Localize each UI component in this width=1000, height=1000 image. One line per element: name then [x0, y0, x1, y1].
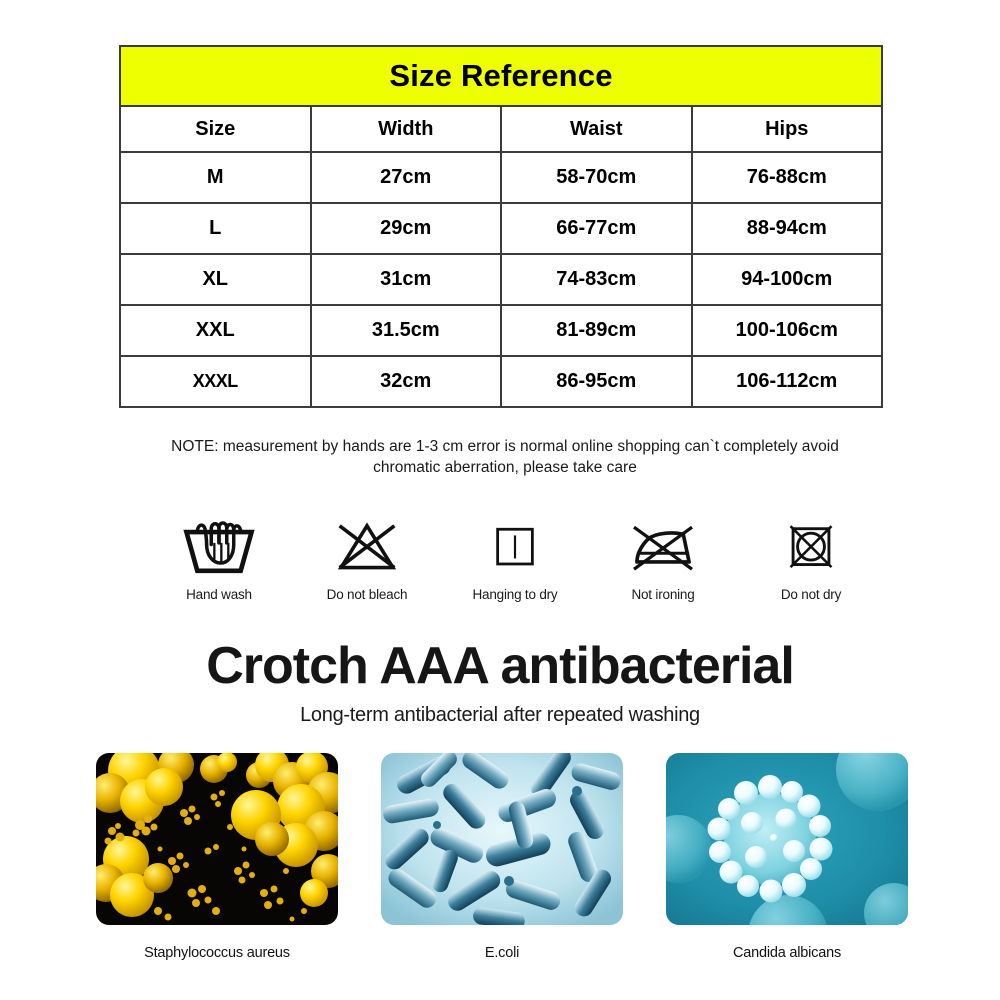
table-title-row: Size Reference — [120, 46, 882, 106]
ecoli-image — [381, 753, 623, 925]
cell-hips: 106-112cm — [692, 356, 883, 407]
bacteria-card-staphylococcus: Staphylococcus aureus — [96, 753, 338, 961]
table-row: XXXL 32cm 86-95cm 106-112cm — [120, 356, 882, 407]
cell-width: 31cm — [311, 254, 502, 305]
bacteria-card-ecoli: E.coli — [381, 753, 623, 961]
cell-waist: 58-70cm — [501, 152, 692, 203]
care-item-do-not-bleach: Do not bleach — [293, 515, 441, 602]
cell-width: 32cm — [311, 356, 502, 407]
column-header-size: Size — [120, 106, 311, 152]
cell-width: 27cm — [311, 152, 502, 203]
care-label: Hand wash — [186, 587, 252, 602]
cell-width: 29cm — [311, 203, 502, 254]
care-item-do-not-dry: Do not dry — [737, 515, 885, 602]
candida-albicans-image — [666, 753, 908, 925]
bacteria-caption: E.coli — [381, 945, 623, 961]
care-label: Hanging to dry — [472, 587, 557, 602]
cell-waist: 66-77cm — [501, 203, 692, 254]
cell-size: XL — [120, 254, 311, 305]
cell-width: 31.5cm — [311, 305, 502, 356]
size-reference-table-container: Size Reference Size Width Waist Hips M 2… — [119, 45, 883, 408]
hanging-to-dry-icon — [484, 515, 546, 577]
cell-size: M — [120, 152, 311, 203]
care-label: Not ironing — [631, 587, 694, 602]
cell-size: XXL — [120, 305, 311, 356]
cell-hips: 88-94cm — [692, 203, 883, 254]
care-label: Do not bleach — [327, 587, 408, 602]
do-not-tumble-dry-icon — [779, 515, 843, 577]
hand-wash-icon — [180, 515, 258, 577]
care-label: Do not dry — [781, 587, 841, 602]
care-instructions-row: Hand wash Do not bleach Hanging to dry — [145, 515, 885, 602]
bacteria-caption: Staphylococcus aureus — [96, 945, 338, 961]
not-ironing-icon — [625, 515, 701, 577]
cell-size: L — [120, 203, 311, 254]
table-row: M 27cm 58-70cm 76-88cm — [120, 152, 882, 203]
cell-hips: 100-106cm — [692, 305, 883, 356]
page-title: Crotch AAA antibacterial — [0, 636, 1000, 696]
column-header-waist: Waist — [501, 106, 692, 152]
measurement-note: NOTE: measurement by hands are 1-3 cm er… — [160, 437, 850, 479]
page-subtitle: Long-term antibacterial after repeated w… — [0, 704, 1000, 727]
table-row: XL 31cm 74-83cm 94-100cm — [120, 254, 882, 305]
cell-waist: 86-95cm — [501, 356, 692, 407]
care-item-not-ironing: Not ironing — [589, 515, 737, 602]
cell-size: XXXL — [120, 356, 311, 407]
do-not-bleach-icon — [331, 515, 403, 577]
table-header-row: Size Width Waist Hips — [120, 106, 882, 152]
care-item-hand-wash: Hand wash — [145, 515, 293, 602]
column-header-hips: Hips — [692, 106, 883, 152]
size-guide-page: Size Reference Size Width Waist Hips M 2… — [0, 0, 1000, 1000]
staphylococcus-aureus-image — [96, 753, 338, 925]
bacteria-card-candida: Candida albicans — [666, 753, 908, 961]
table-row: XXL 31.5cm 81-89cm 100-106cm — [120, 305, 882, 356]
cell-waist: 81-89cm — [501, 305, 692, 356]
size-reference-table: Size Reference Size Width Waist Hips M 2… — [119, 45, 883, 408]
cell-hips: 76-88cm — [692, 152, 883, 203]
size-reference-title: Size Reference — [120, 46, 882, 106]
cell-hips: 94-100cm — [692, 254, 883, 305]
care-item-hanging-to-dry: Hanging to dry — [441, 515, 589, 602]
column-header-width: Width — [311, 106, 502, 152]
cell-waist: 74-83cm — [501, 254, 692, 305]
bacteria-card-row: Staphylococcus aureus — [96, 753, 908, 961]
bacteria-caption: Candida albicans — [666, 945, 908, 961]
table-row: L 29cm 66-77cm 88-94cm — [120, 203, 882, 254]
